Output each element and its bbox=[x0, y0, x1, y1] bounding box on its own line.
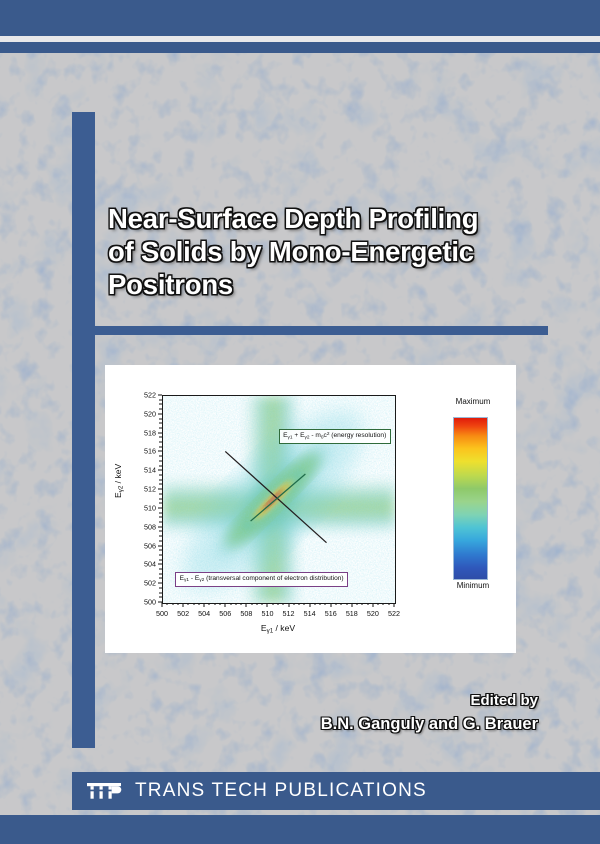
x-axis-ticks: 500502504506508510512514516518520522 bbox=[162, 602, 394, 624]
y-tick-label: 520 bbox=[132, 409, 156, 418]
x-tick-label: 504 bbox=[193, 609, 215, 618]
colorbar-gradient bbox=[453, 417, 488, 580]
top-band-primary bbox=[0, 0, 600, 36]
x-tick-label: 500 bbox=[151, 609, 173, 618]
y-tick-label: 516 bbox=[132, 447, 156, 456]
ttp-logo-icon bbox=[86, 780, 122, 802]
y-axis-label-sub: γ2 bbox=[118, 486, 125, 493]
x-tick-label: 510 bbox=[256, 609, 278, 618]
annotation-transversal-component: Eγ1 - Eγ2 (transversal component of elec… bbox=[175, 572, 348, 587]
x-tick-label: 502 bbox=[172, 609, 194, 618]
figure-inner: Eγ2 / keV Eγ1 / keV 50050250450650851051… bbox=[105, 365, 516, 653]
annotation-energy-resolution: Eγ1 + Eγ2 - m0c2 (energy resolution) bbox=[279, 429, 391, 444]
cover-figure-panel: Eγ2 / keV Eγ1 / keV 50050250450650851051… bbox=[105, 365, 516, 653]
y-axis-label: Eγ2 / keV bbox=[113, 464, 125, 498]
y-axis-ticks: 500502504506508510512514516518520522 bbox=[130, 395, 162, 602]
anno0-tail: (energy resolution) bbox=[329, 432, 386, 439]
title-line-1: Near-Surface Depth Profiling bbox=[108, 202, 538, 235]
edited-by-label: Edited by bbox=[321, 690, 538, 711]
y-tick-label: 518 bbox=[132, 428, 156, 437]
anno0-op2: - m bbox=[310, 432, 321, 439]
y-axis-label-base: E bbox=[113, 492, 123, 498]
y-tick-label: 508 bbox=[132, 522, 156, 531]
x-tick-label: 508 bbox=[235, 609, 257, 618]
publisher-name: TRANS TECH PUBLICATIONS bbox=[135, 780, 427, 802]
colorbar-max-label: Maximum bbox=[435, 397, 511, 406]
top-band-secondary bbox=[0, 42, 600, 53]
title-line-3: Positrons bbox=[108, 268, 538, 301]
x-tick-label: 514 bbox=[299, 609, 321, 618]
y-tick-label: 500 bbox=[132, 598, 156, 607]
vertical-rule bbox=[72, 112, 95, 748]
x-tick-label: 516 bbox=[320, 609, 342, 618]
y-tick-label: 514 bbox=[132, 466, 156, 475]
horizontal-rule bbox=[72, 326, 548, 335]
colorbar: Maximum Minimum bbox=[435, 395, 511, 602]
y-tick-label: 504 bbox=[132, 560, 156, 569]
x-axis-label-unit: / keV bbox=[273, 623, 295, 633]
publisher-bar: TRANS TECH PUBLICATIONS bbox=[72, 772, 600, 810]
y-tick-label: 522 bbox=[132, 391, 156, 400]
title-line-2: of Solids by Mono-Energetic bbox=[108, 235, 538, 268]
anno0-op1: + bbox=[293, 432, 301, 439]
page-title: Near-Surface Depth Profiling of Solids b… bbox=[108, 202, 538, 301]
bottom-band bbox=[0, 815, 600, 844]
x-tick-label: 518 bbox=[341, 609, 363, 618]
y-tick-label: 510 bbox=[132, 503, 156, 512]
colorbar-min-label: Minimum bbox=[435, 581, 511, 590]
book-cover: Near-Surface Depth Profiling of Solids b… bbox=[0, 0, 600, 844]
anno1-tail: (transversal component of electron distr… bbox=[204, 575, 343, 582]
x-tick-label: 512 bbox=[278, 609, 300, 618]
x-tick-label: 522 bbox=[383, 609, 405, 618]
editors-names: B.N. Ganguly and G. Brauer bbox=[321, 713, 538, 736]
x-tick-label: 520 bbox=[362, 609, 384, 618]
x-tick-label: 506 bbox=[214, 609, 236, 618]
y-axis-label-unit: / keV bbox=[113, 464, 123, 486]
x-axis-label: Eγ1 / keV bbox=[261, 623, 295, 635]
y-tick-label: 506 bbox=[132, 541, 156, 550]
editors-block: Edited by B.N. Ganguly and G. Brauer bbox=[321, 690, 538, 736]
y-tick-label: 512 bbox=[132, 485, 156, 494]
y-tick-label: 502 bbox=[132, 579, 156, 588]
